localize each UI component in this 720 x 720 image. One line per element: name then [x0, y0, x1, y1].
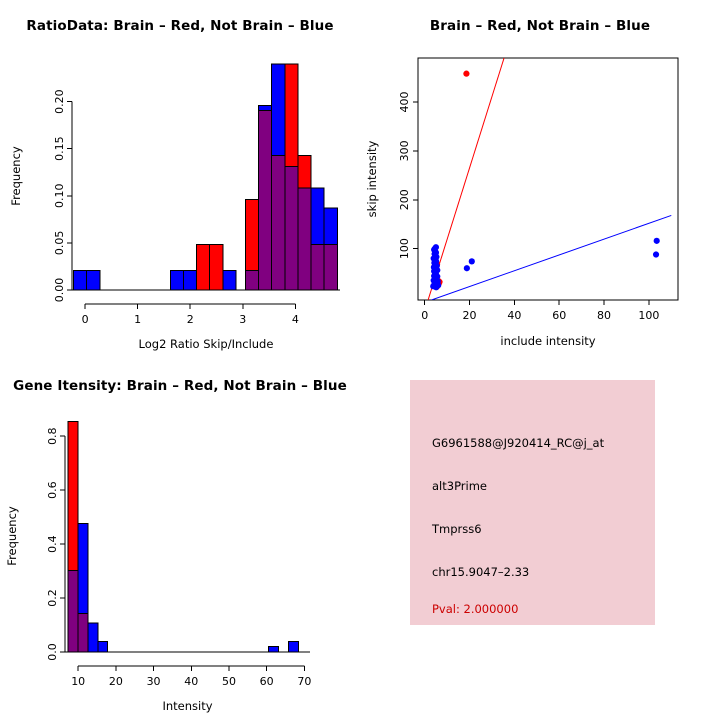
- ratio-bar-1-outer: [87, 271, 100, 290]
- panel-gene-intensity-histogram: Gene Itensity: Brain – Red, Not Brain – …: [0, 360, 360, 720]
- scatter-point-1-3: [464, 265, 470, 271]
- scatter-x-ticklabel-5: 100: [638, 309, 659, 322]
- ratio-bar-8-overlap: [259, 111, 272, 290]
- scatter-x-ticklabel-0: 0: [421, 309, 428, 322]
- gene-x-axis-title: Intensity: [162, 699, 212, 713]
- ratio-histogram-svg: 0.000.050.100.150.2001234Log2 Ratio Skip…: [0, 0, 360, 360]
- scatter-y-ticklabel-3: 400: [398, 92, 411, 113]
- intensity-scatter-svg: 020406080100100200300400include intensit…: [360, 0, 720, 360]
- scatter-y-ticklabel-1: 200: [398, 189, 411, 210]
- gene-y-ticklabel-0: 0.0: [46, 643, 59, 661]
- scatter-point-1-38: [432, 262, 438, 268]
- ratio-bar-7-overlap: [245, 271, 258, 290]
- ratio-bar-10-overlap: [285, 167, 298, 290]
- gene-bar-3-outer: [98, 642, 108, 652]
- scatter-point-1-2: [469, 258, 475, 264]
- ratio-y-ticklabel-1: 0.05: [53, 231, 66, 256]
- gene-x-ticklabel-3: 40: [184, 675, 198, 688]
- ratio-bar-4-outer: [197, 245, 210, 290]
- gene-bar-0-overlap: [68, 570, 78, 652]
- ratio-x-ticklabel-0: 0: [82, 313, 89, 326]
- scatter-point-0-0: [463, 71, 469, 77]
- gene-x-ticklabel-2: 30: [147, 675, 161, 688]
- scatter-y-ticklabel-0: 100: [398, 238, 411, 259]
- gene-x-ticklabel-5: 60: [260, 675, 274, 688]
- gene-y-axis-title: Frequency: [5, 506, 19, 566]
- ratio-x-ticklabel-1: 1: [134, 313, 141, 326]
- scatter-fit-line-1: [431, 215, 671, 300]
- gene-plot-region: 0.00.20.40.60.810203040506070IntensityFr…: [5, 421, 311, 713]
- ratio-y-ticklabel-3: 0.15: [53, 136, 66, 161]
- gene-y-ticklabel-4: 0.8: [46, 427, 59, 445]
- scatter-x-ticklabel-3: 60: [552, 309, 566, 322]
- ratio-bar-3-outer: [183, 271, 196, 290]
- ratio-y-axis-title: Frequency: [9, 146, 23, 206]
- gene-y-ticklabel-3: 0.6: [46, 481, 59, 499]
- panel-gene-info: G6961588@J920414_RC@j_at alt3Prime Tmprs…: [360, 360, 720, 720]
- panel-intensity-scatter: Brain – Red, Not Brain – Blue 0204060801…: [360, 0, 720, 360]
- ratio-x-axis-title: Log2 Ratio Skip/Include: [139, 337, 274, 351]
- gene-bar-1-overlap: [78, 613, 88, 652]
- ratio-bar-9-overlap: [272, 155, 285, 290]
- scatter-point-1-35: [433, 244, 439, 250]
- probe-id-label: G6961588@J920414_RC@j_at: [432, 436, 604, 450]
- ratio-y-ticklabel-2: 0.10: [53, 184, 66, 209]
- ratio-x-ticklabel-4: 4: [292, 313, 299, 326]
- gene-y-ticklabel-2: 0.4: [46, 535, 59, 553]
- ratio-bar-11-overlap: [298, 188, 311, 290]
- ratio-bar-12-overlap: [311, 245, 324, 290]
- ratio-bar-6-outer: [223, 271, 236, 290]
- panel-ratio-histogram: RatioData: Brain – Red, Not Brain – Blue…: [0, 0, 360, 360]
- gene-symbol-label: Tmprss6: [432, 522, 482, 536]
- ratio-bar-13-overlap: [324, 245, 337, 290]
- gene-intensity-svg: 0.00.20.40.60.810203040506070IntensityFr…: [0, 360, 360, 720]
- gene-y-ticklabel-1: 0.2: [46, 589, 59, 607]
- scatter-point-1-39: [434, 277, 440, 283]
- scatter-inner: [428, 58, 671, 300]
- gene-x-ticklabel-6: 70: [297, 675, 311, 688]
- scatter-plot-region: 020406080100100200300400include intensit…: [365, 58, 678, 348]
- pvalue-label: Pval: 2.000000: [432, 602, 518, 616]
- panel-gene-title: Gene Itensity: Brain – Red, Not Brain – …: [0, 378, 360, 394]
- gene-x-ticklabel-0: 10: [71, 675, 85, 688]
- ratio-y-ticklabel-0: 0.00: [53, 278, 66, 303]
- alt-splice-type-label: alt3Prime: [432, 479, 487, 493]
- scatter-y-axis-title: skip intensity: [365, 140, 379, 217]
- scatter-x-axis-title: include intensity: [500, 334, 595, 348]
- panel-scatter-title: Brain – Red, Not Brain – Blue: [360, 18, 720, 34]
- ratio-bar-5-outer: [210, 245, 223, 290]
- gene-bar-5-outer: [289, 642, 299, 652]
- scatter-plot-box: [418, 58, 678, 300]
- gene-info-box: G6961588@J920414_RC@j_at alt3Prime Tmprs…: [410, 380, 655, 625]
- gene-x-ticklabel-4: 50: [222, 675, 236, 688]
- scatter-point-1-33: [433, 284, 439, 290]
- ratio-plot-region: 0.000.050.100.150.2001234Log2 Ratio Skip…: [9, 64, 340, 351]
- panel-ratio-title: RatioData: Brain – Red, Not Brain – Blue: [0, 18, 360, 34]
- ratio-x-ticklabel-2: 2: [187, 313, 194, 326]
- ratio-y-ticklabel-4: 0.20: [53, 89, 66, 114]
- scatter-y-ticklabel-2: 300: [398, 140, 411, 161]
- scatter-x-ticklabel-4: 80: [597, 309, 611, 322]
- scatter-point-1-0: [654, 238, 660, 244]
- ratio-bar-0-outer: [74, 271, 87, 290]
- plot-page: RatioData: Brain – Red, Not Brain – Blue…: [0, 0, 720, 720]
- ratio-bar-2-outer: [170, 271, 183, 290]
- gene-x-ticklabel-1: 20: [109, 675, 123, 688]
- scatter-x-ticklabel-2: 40: [507, 309, 521, 322]
- gene-bar-2-outer: [88, 623, 98, 652]
- scatter-x-ticklabel-1: 20: [463, 309, 477, 322]
- gene-bar-4-outer: [269, 647, 279, 652]
- locus-label: chr15.9047–2.33: [432, 565, 529, 579]
- ratio-x-ticklabel-3: 3: [239, 313, 246, 326]
- scatter-point-1-1: [653, 251, 659, 257]
